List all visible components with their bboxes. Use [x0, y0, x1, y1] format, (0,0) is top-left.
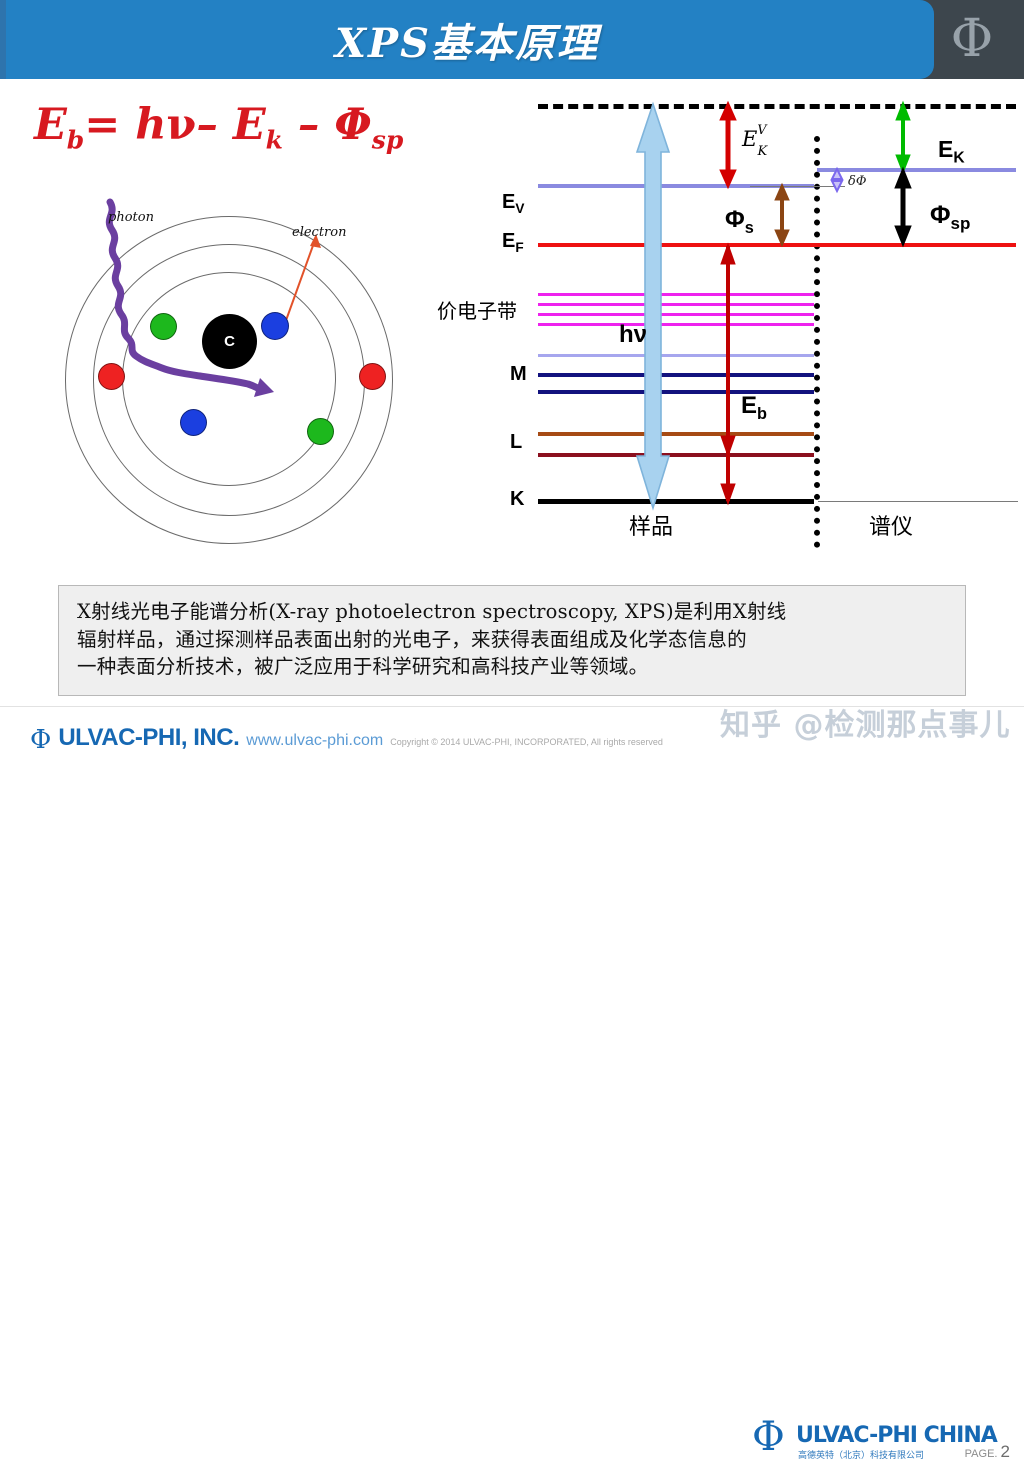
label-EF-sub: F [515, 240, 523, 255]
copyright-text: Copyright © 2014 ULVAC-PHI, INCORPORATED… [390, 737, 663, 747]
footer-divider [0, 706, 1024, 707]
eq-Ek-E: E [233, 100, 266, 150]
slide-root: XPS基本原理 Φ Eb= hν– Ek – Φsp C photon elec… [0, 0, 1024, 766]
label-M: M [510, 363, 527, 386]
electron-label: electron [292, 225, 346, 240]
description-line-1: X射线光电子能谱分析(X-ray photoelectron spectrosc… [77, 598, 947, 626]
electron-dot-green-lower-right [307, 418, 334, 445]
ulvac-phi-china-logo: Φ ULVAC-PHI CHINA 高德英特（北京）科技有限公司 [752, 1413, 952, 1463]
eq-phi: Φ [334, 100, 371, 150]
Phi-s-arrow [775, 184, 789, 246]
label-EV: EV [502, 191, 524, 216]
label-EkV: EVK [742, 126, 776, 155]
label-hv: hν [619, 321, 647, 349]
label-EkV-sub: K [757, 144, 767, 159]
label-Phi-sp-sub: sp [951, 214, 971, 233]
label-Phi-s-sub: s [745, 219, 754, 237]
description-line-3: 一种表面分析技术，被广泛应用于科学研究和高科技产业等领域。 [77, 653, 947, 681]
china-company-subtitle: 高德英特（北京）科技有限公司 [798, 1448, 924, 1461]
ulvac-company-name: ULVAC-PHI, INC. [58, 724, 239, 752]
label-EV-sub: V [515, 201, 524, 216]
label-Phi-sp: Φsp [930, 201, 970, 234]
label-Eb: Eb [741, 392, 767, 424]
ulvac-phi-glyph-icon: Φ [30, 727, 51, 753]
energy-level-diagram: EV EF 价电子带 M L K EVK Φs hν Eb EK Φsp δΦ … [460, 96, 1020, 536]
page-number-block: PAGE. 2 [965, 1442, 1010, 1462]
label-spectrometer: 谱仪 [869, 509, 913, 541]
ulvac-phi-logo: Φ ULVAC-PHI, INC. www.ulvac-phi.com Copy… [30, 724, 663, 752]
eq-equals: = [84, 100, 135, 150]
atom-nucleus: C [202, 314, 257, 369]
label-Phi-s: Φs [725, 206, 754, 238]
label-valence-band: 价电子带 [437, 295, 517, 324]
phi-logo-icon: Φ [934, 2, 1010, 76]
label-EF: EF [502, 230, 524, 255]
slide-footer: Φ ULVAC-PHI, INC. www.ulvac-phi.com Copy… [0, 706, 1024, 766]
electron-dot-red-left [98, 363, 125, 390]
label-EkV-sup: V [757, 122, 766, 137]
eq-Eb-sub: b [67, 126, 84, 155]
label-EK-sub: K [953, 150, 964, 167]
photon-label: photon [108, 210, 154, 225]
energy-arrows-svg [460, 96, 1020, 536]
label-Eb-sub: b [757, 405, 767, 423]
hv-arrow [637, 104, 669, 508]
eq-h: h [135, 100, 166, 150]
EK-arrow [896, 102, 910, 173]
Phi-sp-arrow [895, 168, 911, 246]
eq-phi-sub: sp [372, 126, 403, 155]
xps-equation: Eb= hν– Ek – Φsp [34, 100, 403, 155]
label-L: L [510, 431, 522, 454]
electron-dot-red-right [359, 363, 386, 390]
photon-arrowhead [254, 378, 274, 397]
slide-header: XPS基本原理 Φ [0, 0, 1024, 79]
Eb-arrow-lower [721, 453, 735, 504]
ulvac-website-link[interactable]: www.ulvac-phi.com [246, 732, 383, 750]
electron-arrow-line [284, 240, 315, 326]
label-EK: EK [938, 136, 965, 168]
page-prefix: PAGE. [965, 1448, 998, 1460]
china-phi-glyph-icon: Φ [752, 1417, 785, 1457]
EkV-arrow [720, 102, 736, 188]
eq-minus-2: – [283, 100, 334, 150]
page-title: XPS基本原理 [0, 6, 934, 74]
electron-dot-green-upper-left [150, 313, 177, 340]
delta-phi-arrow [832, 169, 842, 191]
label-sample: 样品 [629, 509, 673, 541]
electron-dot-blue-lower [180, 409, 207, 436]
description-textbox: X射线光电子能谱分析(X-ray photoelectron spectrosc… [58, 585, 966, 696]
eq-minus-1: – [196, 100, 232, 150]
label-delta-phi: δΦ [848, 174, 866, 189]
eq-Ek-sub: k [266, 126, 283, 155]
eq-nu: ν [166, 100, 196, 150]
label-K: K [510, 488, 524, 511]
eq-Eb-E: E [34, 100, 67, 150]
description-line-2: 辐射样品，通过探测样品表面出射的光电子，来获得表面组成及化学态信息的 [77, 626, 947, 654]
electron-dot-blue-ejected [261, 312, 289, 340]
Eb-arrow [721, 244, 735, 456]
page-number: 2 [1001, 1442, 1010, 1461]
atom-diagram: C photon electron [62, 196, 422, 516]
